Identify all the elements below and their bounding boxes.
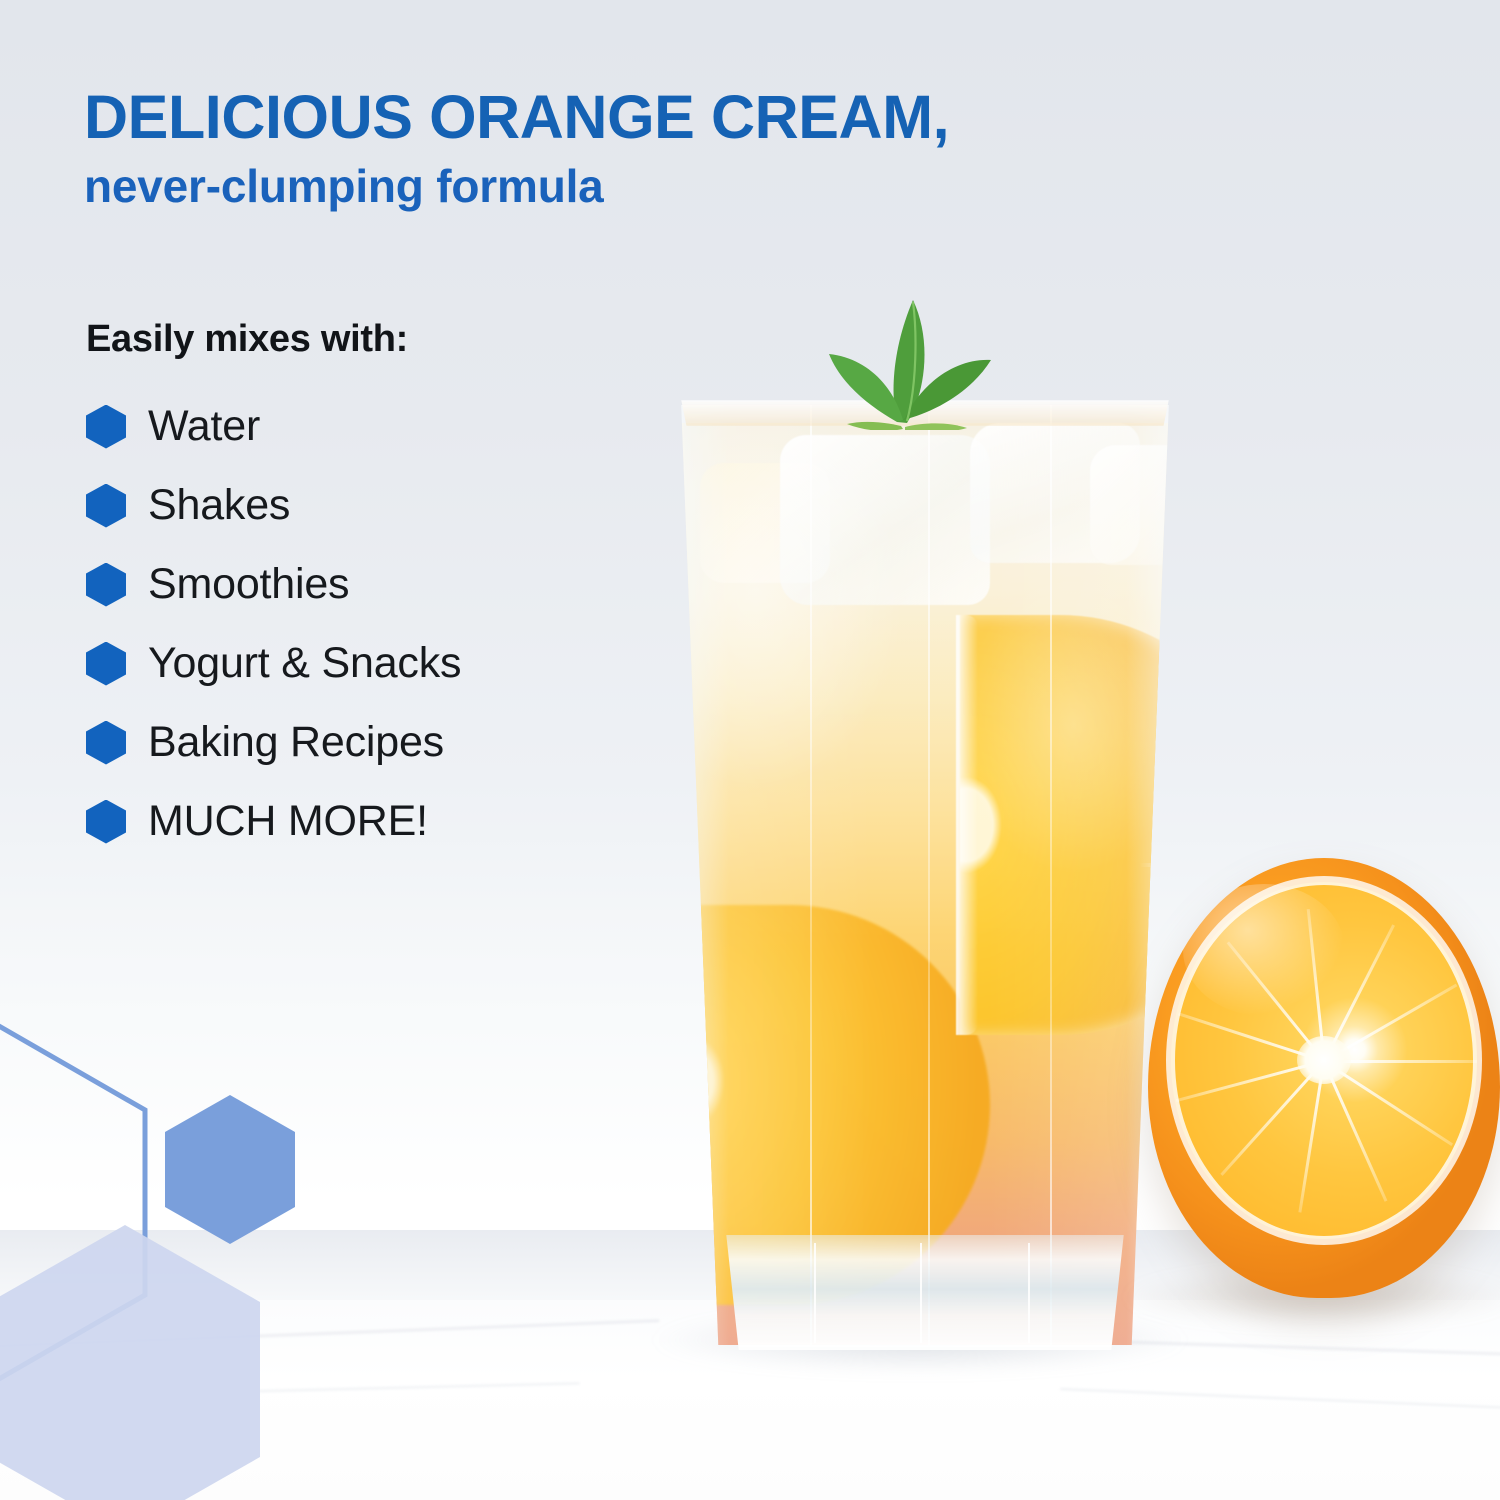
ice-cube <box>1090 445 1210 565</box>
glass-facet-seam <box>928 405 930 1345</box>
orange-peel <box>1148 858 1500 1298</box>
hexagon-bullet-icon <box>86 484 126 528</box>
orange-slice-pith <box>956 615 978 1035</box>
list-item: Shakes <box>86 466 461 545</box>
mint-garnish-icon <box>785 280 1015 430</box>
headline-block: DELICIOUS ORANGE CREAM, never-clumping f… <box>84 86 1374 213</box>
list-item: Water <box>86 387 461 466</box>
hexagon-solid-icon <box>165 1095 295 1244</box>
hexagon-bullet-icon <box>86 563 126 607</box>
glass-base <box>718 1235 1132 1350</box>
hexagon-bullet-icon <box>86 800 126 844</box>
mixes-list-heading: Easily mixes with: <box>86 318 461 361</box>
list-item-label: MUCH MORE! <box>148 797 428 846</box>
list-item-label: Water <box>148 402 260 451</box>
product-marketing-banner: DELICIOUS ORANGE CREAM, never-clumping f… <box>0 0 1500 1500</box>
list-item: Baking Recipes <box>86 703 461 782</box>
page-title: DELICIOUS ORANGE CREAM, <box>84 86 1374 149</box>
list-item: Yogurt & Snacks <box>86 624 461 703</box>
glass-facet-seam <box>810 405 812 1345</box>
list-item: MUCH MORE! <box>86 782 461 861</box>
list-item: Smoothies <box>86 545 461 624</box>
list-item-label: Shakes <box>148 481 290 530</box>
list-item-label: Smoothies <box>148 560 349 609</box>
hexagon-bullet-icon <box>86 642 126 686</box>
glass-facet-seam <box>1050 405 1052 1345</box>
list-item-label: Baking Recipes <box>148 718 444 767</box>
hexagon-pale-icon <box>0 1225 260 1500</box>
hexagon-bullet-icon <box>86 721 126 765</box>
page-subtitle: never-clumping formula <box>84 161 1374 213</box>
orange-half <box>1148 858 1500 1298</box>
mixes-list-block: Easily mixes with: Water Shakes Smoothie… <box>86 318 461 861</box>
orange-gloss-highlight <box>1183 884 1345 1016</box>
decorative-hexagon-group <box>0 1010 430 1500</box>
hexagon-bullet-icon <box>86 405 126 449</box>
list-item-label: Yogurt & Snacks <box>148 639 461 688</box>
drinking-glass <box>660 405 1190 1345</box>
